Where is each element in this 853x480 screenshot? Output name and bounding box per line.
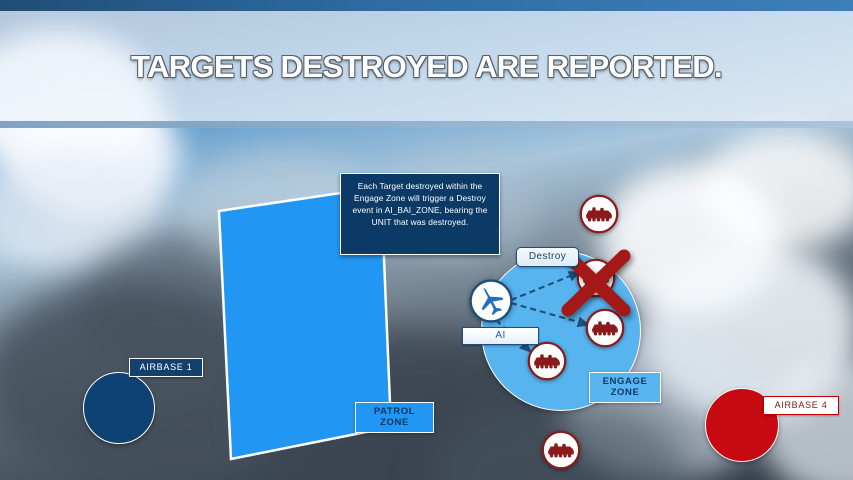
- airbase-1-label[interactable]: AIRBASE 1: [129, 358, 203, 377]
- destroy-callout-label: Destroy: [529, 251, 566, 263]
- title-band: TARGETS DESTROYED ARE REPORTED.: [0, 11, 853, 128]
- fighter-jet-icon[interactable]: [469, 279, 513, 323]
- page-title: TARGETS DESTROYED ARE REPORTED.: [131, 49, 722, 85]
- destroy-callout[interactable]: Destroy: [516, 247, 579, 267]
- airbase-4-label[interactable]: AIRBASE 4: [763, 396, 839, 415]
- airbase-1-marker[interactable]: [83, 372, 155, 444]
- info-callout-box: Each Target destroyed within the Engage …: [340, 173, 500, 255]
- airbase-4-label-text: AIRBASE 4: [775, 400, 828, 410]
- airbase-1-label-text: AIRBASE 1: [140, 362, 193, 372]
- target-icon[interactable]: [527, 341, 567, 381]
- presentation-slide: Each Target destroyed within the Engage …: [0, 0, 853, 480]
- engage-zone-label[interactable]: ENGAGE ZONE: [589, 372, 661, 403]
- top-accent-strip: [0, 0, 853, 11]
- patrol-zone-label-line1: PATROL: [374, 407, 415, 418]
- engage-zone-label-line2: ZONE: [611, 388, 640, 399]
- engage-zone-label-line1: ENGAGE: [603, 377, 648, 388]
- ai-callout-label: AI: [495, 330, 505, 342]
- target-icon[interactable]: [579, 194, 619, 234]
- info-callout-text: Each Target destroyed within the Engage …: [352, 181, 487, 227]
- patrol-zone-label-line2: ZONE: [380, 418, 409, 429]
- patrol-zone-label[interactable]: PATROL ZONE: [355, 402, 434, 433]
- target-icon[interactable]: [541, 430, 581, 470]
- ai-callout[interactable]: AI: [462, 327, 539, 345]
